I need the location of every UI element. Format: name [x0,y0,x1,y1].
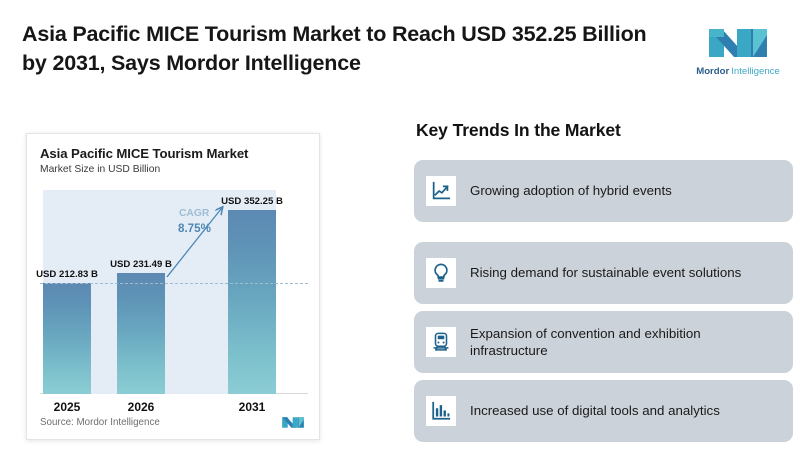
source-text: Source: Mordor Intelligence [40,417,160,428]
chart-footer: Source: Mordor Intelligence [40,413,306,431]
trend-card[interactable]: Rising demand for sustainable event solu… [414,242,793,304]
cagr-arrow-icon [40,190,308,394]
panel-title: Key Trends In the Market [416,120,621,141]
trend-card-text: Rising demand for sustainable event solu… [470,264,741,281]
line-chart-up-icon [430,180,452,202]
trend-icon-box [426,258,456,288]
cagr-label: CAGR [179,208,209,219]
mordor-mi-monogram-icon [707,23,769,63]
brand-name-bold: Mordor [696,67,729,77]
trend-card[interactable]: Growing adoption of hybrid events [414,160,793,222]
page-title: Asia Pacific MICE Tourism Market to Reac… [22,20,662,78]
trend-card-text: Growing adoption of hybrid events [470,182,672,199]
chart-subtitle: Market Size in USD Billion [40,164,306,175]
cagr-value: 8.75% [178,222,211,235]
trend-card-text: Expansion of convention and exhibition i… [470,325,781,359]
brand-wordmark: Mordor Intelligence [696,67,780,77]
infographic-page: Asia Pacific MICE Tourism Market to Reac… [0,0,800,450]
trend-card[interactable]: Expansion of convention and exhibition i… [414,311,793,373]
train-icon [430,331,452,353]
lightbulb-icon [430,262,452,284]
bar-chart-plot: USD 212.83 B2025USD 231.49 B2026USD 352.… [40,190,308,394]
trend-icon-box [426,327,456,357]
trend-card-text: Increased use of digital tools and analy… [470,402,720,419]
brand-name-light: Intelligence [731,67,780,77]
brand-logo: Mordor Intelligence [688,8,788,92]
bar-chart-icon [430,400,452,422]
chart-title: Asia Pacific MICE Tourism Market [40,146,306,161]
mordor-mi-monogram-icon [280,415,306,430]
chart-card: Asia Pacific MICE Tourism Market Market … [26,133,320,440]
trend-icon-box [426,396,456,426]
trend-icon-box [426,176,456,206]
trend-card[interactable]: Increased use of digital tools and analy… [414,380,793,442]
x-axis-tick-label: 2031 [239,400,266,414]
x-axis-tick-label: 2026 [128,400,155,414]
x-axis-tick-label: 2025 [54,400,81,414]
